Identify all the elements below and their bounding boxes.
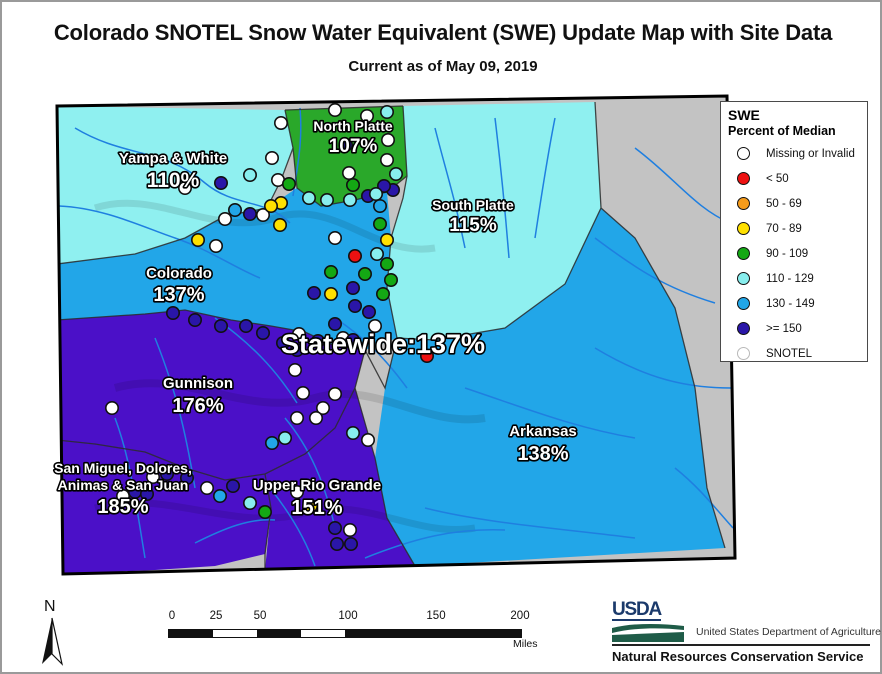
snotel-site-marker[interactable] xyxy=(257,327,269,339)
scale-bar-track xyxy=(168,629,522,638)
snotel-site-marker[interactable] xyxy=(329,232,341,244)
basin-value-arkansas: 138% xyxy=(517,443,568,465)
snotel-site-marker[interactable] xyxy=(219,213,231,225)
circle-marker-icon xyxy=(737,322,750,335)
scale-tick-0: 0 xyxy=(169,610,175,622)
snotel-site-marker[interactable] xyxy=(215,177,227,189)
snotel-site-marker[interactable] xyxy=(377,288,389,300)
snotel-site-marker[interactable] xyxy=(381,258,393,270)
snotel-site-marker[interactable] xyxy=(385,274,397,286)
snotel-site-marker[interactable] xyxy=(201,482,213,494)
scale-units-label: Miles xyxy=(513,638,538,650)
circle-marker-icon xyxy=(737,272,750,285)
snotel-site-marker[interactable] xyxy=(289,364,301,376)
snotel-site-marker[interactable] xyxy=(227,480,239,492)
snotel-site-marker[interactable] xyxy=(329,522,341,534)
page-subtitle: Current as of May 09, 2019 xyxy=(2,58,882,75)
page-title: Colorado SNOTEL Snow Water Equivalent (S… xyxy=(2,20,882,46)
snotel-site-marker[interactable] xyxy=(381,106,393,118)
legend-item-6[interactable]: 130 - 149 xyxy=(728,291,861,316)
snotel-site-marker[interactable] xyxy=(349,250,361,262)
snotel-site-marker[interactable] xyxy=(370,188,382,200)
scale-tick-200: 200 xyxy=(510,610,529,622)
snotel-site-marker[interactable] xyxy=(279,432,291,444)
legend-item-label: Missing or Invalid xyxy=(766,148,855,160)
basin-label-colorado: Colorado xyxy=(146,265,212,282)
snotel-site-marker[interactable] xyxy=(192,234,204,246)
snotel-site-marker[interactable] xyxy=(344,194,356,206)
snotel-site-marker[interactable] xyxy=(347,282,359,294)
snotel-site-marker[interactable] xyxy=(106,402,118,414)
usda-department-label: United States Department of Agriculture xyxy=(696,626,881,638)
snotel-site-marker[interactable] xyxy=(189,314,201,326)
snotel-site-marker[interactable] xyxy=(331,538,343,550)
circle-marker-icon xyxy=(737,147,750,160)
snotel-site-marker[interactable] xyxy=(321,194,333,206)
circle-marker-icon xyxy=(737,297,750,310)
basin-value-gunnison: 176% xyxy=(172,395,223,417)
legend-item-1[interactable]: < 50 xyxy=(728,166,861,191)
snotel-site-marker[interactable] xyxy=(240,320,252,332)
snotel-site-marker[interactable] xyxy=(214,490,226,502)
legend-subtitle: Percent of Median xyxy=(728,123,861,139)
snotel-site-marker[interactable] xyxy=(275,117,287,129)
legend-item-label: < 50 xyxy=(766,173,789,185)
basin-label-gunnison: Gunnison xyxy=(163,375,233,392)
snotel-site-marker[interactable] xyxy=(274,219,286,231)
snotel-site-marker[interactable] xyxy=(325,288,337,300)
snotel-site-marker[interactable] xyxy=(381,234,393,246)
snotel-site-marker[interactable] xyxy=(344,524,356,536)
map-canvas[interactable]: North Platte 107% Yampa & White 110% Sou… xyxy=(35,88,747,588)
snotel-site-marker[interactable] xyxy=(343,167,355,179)
snotel-site-marker[interactable] xyxy=(244,169,256,181)
snotel-site-marker[interactable] xyxy=(325,266,337,278)
snotel-site-marker[interactable] xyxy=(349,300,361,312)
legend-item-label: 70 - 89 xyxy=(766,223,802,235)
basin-value-yampa-white: 110% xyxy=(147,169,200,192)
usda-agency-label: Natural Resources Conservation Service xyxy=(612,649,863,664)
snotel-site-marker[interactable] xyxy=(362,434,374,446)
snotel-site-marker[interactable] xyxy=(371,248,383,260)
snotel-site-marker[interactable] xyxy=(329,104,341,116)
map-page: Colorado SNOTEL Snow Water Equivalent (S… xyxy=(0,0,882,674)
snotel-site-marker[interactable] xyxy=(266,152,278,164)
snotel-site-marker[interactable] xyxy=(390,168,402,180)
scale-tick-150: 150 xyxy=(426,610,445,622)
snotel-site-marker[interactable] xyxy=(382,134,394,146)
legend-item-label: 90 - 109 xyxy=(766,248,808,260)
snotel-site-marker[interactable] xyxy=(308,287,320,299)
legend-item-2[interactable]: 50 - 69 xyxy=(728,191,861,216)
basin-label-san-miguel-line2: Animas & San Juan xyxy=(58,477,189,493)
legend-item-label: 50 - 69 xyxy=(766,198,802,210)
basin-value-north-platte: 107% xyxy=(329,136,378,157)
snotel-site-marker[interactable] xyxy=(347,427,359,439)
snotel-site-marker[interactable] xyxy=(283,178,295,190)
circle-marker-icon xyxy=(737,247,750,260)
snotel-site-marker[interactable] xyxy=(345,538,357,550)
snotel-site-marker[interactable] xyxy=(167,307,179,319)
statewide-label: Statewide:137% xyxy=(281,329,485,359)
snotel-site-marker[interactable] xyxy=(215,320,227,332)
scale-tick-50: 50 xyxy=(254,610,267,622)
scale-tick-25: 25 xyxy=(210,610,223,622)
snotel-site-marker[interactable] xyxy=(229,204,241,216)
legend-item-label: SNOTEL xyxy=(766,348,812,360)
snotel-site-marker[interactable] xyxy=(303,192,315,204)
legend-item-8[interactable]: SNOTEL xyxy=(728,341,861,366)
basin-value-upper-rio-grande: 151% xyxy=(291,497,342,519)
circle-marker-icon xyxy=(737,222,750,235)
north-arrow-icon xyxy=(32,614,82,670)
basin-label-north-platte: North Platte xyxy=(313,118,393,134)
legend-item-label: 110 - 129 xyxy=(766,273,814,285)
snotel-site-icon xyxy=(737,347,750,360)
legend-panel: SWE Percent of Median Missing or Invalid… xyxy=(720,101,868,362)
basin-label-san-miguel-line1: San Miguel, Dolores, xyxy=(54,460,192,476)
scale-bar: 0 25 50 100 150 200 Miles xyxy=(168,610,538,658)
legend-item-7[interactable]: >= 150 xyxy=(728,316,861,341)
snotel-site-marker[interactable] xyxy=(329,388,341,400)
snotel-site-marker[interactable] xyxy=(291,412,303,424)
basin-value-colorado: 137% xyxy=(153,284,204,306)
basin-value-san-miguel: 185% xyxy=(97,496,148,518)
snotel-site-marker[interactable] xyxy=(381,154,393,166)
usda-logo-block: USDA United States Department of Agricul… xyxy=(612,600,874,643)
basin-label-yampa-white: Yampa & White xyxy=(119,150,227,167)
legend-item-5[interactable]: 110 - 129 xyxy=(728,266,861,291)
snotel-site-marker[interactable] xyxy=(210,240,222,252)
snotel-site-marker[interactable] xyxy=(363,306,375,318)
legend-rows: Missing or Invalid< 5050 - 6970 - 8990 -… xyxy=(728,141,861,366)
legend-item-label: 130 - 149 xyxy=(766,298,815,310)
snotel-site-marker[interactable] xyxy=(244,497,256,509)
circle-marker-icon xyxy=(737,172,750,185)
snotel-site-marker[interactable] xyxy=(266,437,278,449)
basin-label-arkansas: Arkansas xyxy=(509,423,577,440)
legend-title: SWE xyxy=(728,107,861,123)
colorado-map[interactable]: North Platte 107% Yampa & White 110% Sou… xyxy=(35,88,747,588)
snotel-site-marker[interactable] xyxy=(297,387,309,399)
snotel-site-marker[interactable] xyxy=(374,218,386,230)
snotel-site-marker[interactable] xyxy=(374,200,386,212)
scale-tick-100: 100 xyxy=(338,610,357,622)
legend-item-label: >= 150 xyxy=(766,323,802,335)
circle-marker-icon xyxy=(737,197,750,210)
legend-item-3[interactable]: 70 - 89 xyxy=(728,216,861,241)
usda-divider xyxy=(612,644,870,646)
basin-value-south-platte: 115% xyxy=(449,215,497,236)
snotel-site-marker[interactable] xyxy=(359,268,371,280)
snotel-site-marker[interactable] xyxy=(347,179,359,191)
usda-swoosh-icon xyxy=(612,622,688,643)
basin-label-south-platte: South Platte xyxy=(432,197,514,213)
snotel-site-marker[interactable] xyxy=(259,506,271,518)
snotel-site-marker[interactable] xyxy=(244,208,256,220)
legend-item-0[interactable]: Missing or Invalid xyxy=(728,141,861,166)
snotel-site-marker[interactable] xyxy=(310,412,322,424)
snotel-site-marker[interactable] xyxy=(265,200,277,212)
north-arrow: N xyxy=(32,598,82,668)
usda-wordmark: USDA xyxy=(612,600,661,621)
basin-label-upper-rio-grande: Upper Rio Grande xyxy=(253,477,381,494)
legend-item-4[interactable]: 90 - 109 xyxy=(728,241,861,266)
